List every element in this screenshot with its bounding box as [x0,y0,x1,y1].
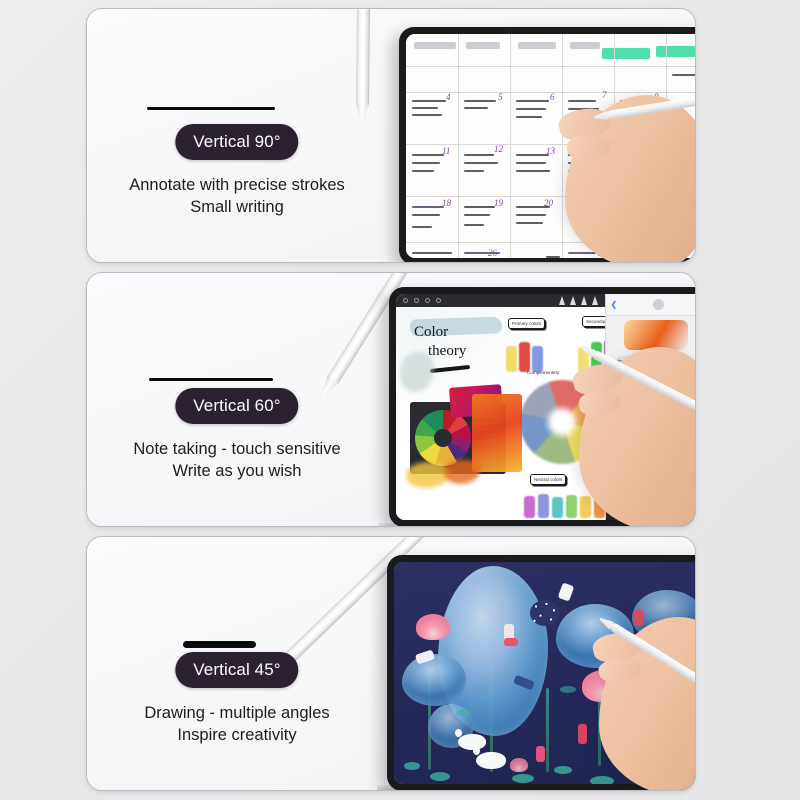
feature-panel-vertical-60: Vertical 60° Note taking - touch sensiti… [86,272,696,527]
lily-pad [402,654,466,706]
circle-icon[interactable] [403,298,408,303]
water-pad [590,776,614,784]
date-number: 19 [494,198,503,208]
handwriting-stroke [516,222,543,224]
water-pad [554,766,572,774]
lotus-seed-pod [530,600,560,626]
water-pad [456,710,470,717]
label-secondary-colors: Secondary colors [582,316,605,327]
caption-line-1: Drawing - multiple angles [144,704,329,722]
label-primary-colors: Primary colors [508,318,545,329]
watercolor-splash [400,352,434,392]
title-underline [430,365,470,373]
date-number: 13 [546,146,555,156]
panel-background: Vertical 90° Annotate with precise strok… [87,9,695,262]
handwriting-stroke [464,224,484,226]
header-scribble [518,42,556,49]
marker-tool-icon[interactable] [570,296,576,305]
figure [536,746,545,762]
feature-panel-vertical-90: Vertical 90° Annotate with precise strok… [86,8,696,263]
handwriting-stroke [464,170,484,172]
angle-badge: Vertical 90° [175,124,298,160]
handwriting-stroke [546,256,560,258]
handwriting-stroke [412,114,442,116]
handwriting-stroke [464,214,490,216]
caption-line-2: Inspire creativity [99,724,375,746]
handwriting-stroke [412,170,434,172]
swatch-periwinkle [538,494,549,518]
caption-column: Vertical 60° Note taking - touch sensiti… [87,273,387,526]
green-highlight [656,46,696,57]
handwriting-stroke [412,162,440,164]
date-number: 12 [494,144,503,154]
duck [458,734,486,750]
pie-chart [415,410,471,466]
handwriting-stroke [412,100,446,102]
lotus-flower [510,758,528,772]
handwriting-stroke [412,154,444,156]
caption-line-1: Annotate with precise strokes [129,176,345,194]
swatch-gold [580,496,591,518]
panel-background: Vertical 45° Drawing - multiple angles I… [87,537,695,790]
panel-caption: Drawing - multiple angles Inspire creati… [87,702,387,747]
water-pad [430,772,450,781]
circle-icon[interactable] [425,298,430,303]
handwriting-stroke [516,154,549,156]
swatch-lime [566,495,577,518]
grid-line [510,34,511,258]
date-number: 26 [488,248,497,258]
date-number: 11 [442,146,450,156]
panel-caption: Note taking - touch sensitive Write as y… [87,438,387,483]
handwriting-stroke [516,116,542,118]
back-chevron-icon[interactable]: ❮ [611,300,618,309]
circle-icon[interactable] [436,298,441,303]
swatch-teal [552,497,563,518]
figure [578,724,587,744]
figure [558,582,575,601]
handwriting-stroke [516,162,546,164]
handwriting-stroke [464,154,494,156]
duck [476,752,506,769]
avatar [653,299,664,310]
handwriting-stroke [412,206,444,208]
handwriting-stroke [412,226,432,228]
tool-group [559,296,598,305]
stylus-illustration [356,8,357,105]
figure [634,610,644,626]
handwriting-stroke [464,206,495,208]
stylus-body [356,8,370,105]
product-feature-image: Vertical 90° Annotate with precise strok… [0,0,800,800]
date-number: 20 [544,198,553,208]
handwriting-stroke [412,107,438,109]
artwork-thumbnail [472,394,522,472]
handwriting-stroke [464,100,496,102]
angle-badge: Vertical 60° [175,388,298,424]
panel-caption: Annotate with precise strokes Small writ… [87,174,387,219]
handwriting-stroke [464,107,488,109]
date-number: 4 [446,92,451,102]
header-scribble [466,42,500,49]
handwriting-stroke [412,214,440,216]
handwriting-stroke [672,74,696,76]
handwriting-stroke [516,214,546,216]
label-complementary: Complementary [524,368,562,377]
pen-tool-icon[interactable] [559,296,565,305]
grid-line [458,34,459,258]
handwriting-stroke [516,100,549,102]
watercolor-splash [444,460,480,484]
handwriting-stroke [568,100,596,102]
grid-line [406,66,696,67]
date-number: 7 [602,90,607,100]
water-pad [560,686,576,693]
pen-stroke-line [149,378,273,381]
date-number: 5 [498,92,503,102]
messages-header: ❮ [606,294,696,316]
swatch-yellow [506,346,517,372]
header-scribble [570,42,600,49]
panel-background: Vertical 60° Note taking - touch sensiti… [87,273,695,526]
stem [546,688,549,772]
pen-stroke-line [183,641,256,648]
pen-stroke-line [147,107,275,110]
grid-line [562,34,563,258]
caption-line-2: Small writing [99,196,375,218]
feature-panel-vertical-45: Vertical 45° Drawing - multiple angles I… [86,536,696,791]
angle-badge: Vertical 45° [175,652,298,688]
note-title-line-1: Color [414,324,448,340]
water-pad [512,774,534,783]
photo-attachment [624,320,688,350]
green-highlight [602,48,650,59]
swatch-magenta [524,496,535,518]
water-pad [404,762,420,770]
notes-toolbar [396,294,605,307]
circle-icon[interactable] [414,298,419,303]
date-number: 18 [442,198,451,208]
stylus-tip [356,104,369,123]
eraser-tool-icon[interactable] [592,296,598,305]
handwriting-stroke [464,162,498,164]
note-title-line-2: theory [428,343,466,360]
handwriting-stroke [516,108,546,110]
caption-line-2: Write as you wish [99,460,375,482]
pencil-tool-icon[interactable] [581,296,587,305]
notes-app-pane: Color theory Primary colors [396,294,605,520]
header-scribble [414,42,456,49]
handwriting-stroke [412,252,452,254]
caption-column: Vertical 90° Annotate with precise strok… [87,9,387,262]
handwriting-stroke [516,170,550,172]
caption-line-1: Note taking - touch sensitive [133,440,340,458]
figure [504,638,518,646]
caption-column: Vertical 45° Drawing - multiple angles I… [87,537,387,790]
date-number: 6 [550,92,555,102]
lotus-flower [416,614,450,640]
label-neutral-colors: Neutral colors [530,474,566,485]
